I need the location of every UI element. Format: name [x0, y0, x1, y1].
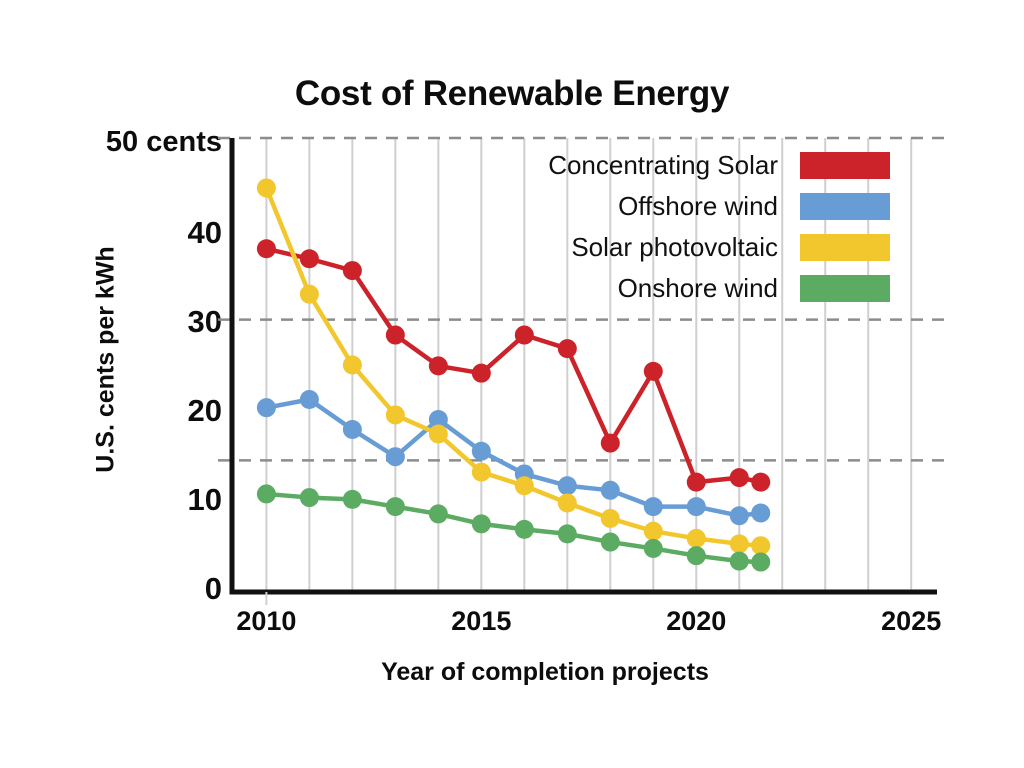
data-point — [730, 506, 749, 525]
data-point — [472, 442, 491, 461]
data-point — [257, 239, 276, 258]
data-point — [687, 546, 706, 565]
data-point — [687, 529, 706, 548]
data-point — [751, 504, 770, 523]
chart-figure: Cost of Renewable Energy U.S. cents per … — [0, 0, 1024, 768]
data-point — [343, 356, 362, 375]
data-point — [515, 326, 534, 345]
data-point — [343, 420, 362, 439]
legend-item-concentrating-solar[interactable]: Concentrating Solar — [430, 150, 890, 181]
legend-label: Offshore wind — [618, 191, 778, 222]
data-point — [472, 364, 491, 383]
plot-area — [0, 0, 1024, 768]
data-point — [386, 405, 405, 424]
legend-label: Onshore wind — [618, 273, 778, 304]
data-point — [257, 484, 276, 503]
data-point — [558, 524, 577, 543]
data-point — [472, 514, 491, 533]
data-point — [300, 249, 319, 268]
data-point — [429, 425, 448, 444]
data-point — [343, 490, 362, 509]
data-point — [730, 552, 749, 571]
data-point — [343, 261, 362, 280]
legend-label: Solar photovoltaic — [571, 232, 778, 263]
legend-color-swatch — [800, 152, 890, 179]
data-point — [386, 326, 405, 345]
data-point — [558, 339, 577, 358]
legend-color-swatch — [800, 275, 890, 302]
legend-item-offshore-wind[interactable]: Offshore wind — [430, 191, 890, 222]
data-point — [644, 522, 663, 541]
data-point — [300, 488, 319, 507]
data-point — [515, 520, 534, 539]
legend-color-swatch — [800, 193, 890, 220]
legend-color-swatch — [800, 234, 890, 261]
data-point — [558, 494, 577, 513]
data-point — [257, 398, 276, 417]
data-point — [429, 504, 448, 523]
data-point — [687, 473, 706, 492]
data-point — [386, 497, 405, 516]
legend-item-solar-photovoltaic[interactable]: Solar photovoltaic — [430, 232, 890, 263]
data-point — [429, 356, 448, 375]
data-point — [515, 476, 534, 495]
data-point — [644, 539, 663, 558]
data-point — [730, 534, 749, 553]
data-point — [558, 476, 577, 495]
data-point — [386, 447, 405, 466]
data-point — [601, 509, 620, 528]
data-point — [751, 536, 770, 555]
data-point — [687, 497, 706, 516]
data-point — [601, 533, 620, 552]
data-point — [751, 553, 770, 572]
data-point — [472, 463, 491, 482]
legend-label: Concentrating Solar — [548, 150, 778, 181]
data-point — [730, 468, 749, 487]
series-line-onshore-wind — [266, 494, 760, 562]
data-point — [601, 434, 620, 453]
data-point — [751, 473, 770, 492]
data-point — [644, 362, 663, 381]
legend-item-onshore-wind[interactable]: Onshore wind — [430, 273, 890, 304]
data-point — [300, 390, 319, 409]
data-point — [644, 497, 663, 516]
data-point — [300, 285, 319, 304]
data-point — [601, 481, 620, 500]
data-point — [257, 178, 276, 197]
